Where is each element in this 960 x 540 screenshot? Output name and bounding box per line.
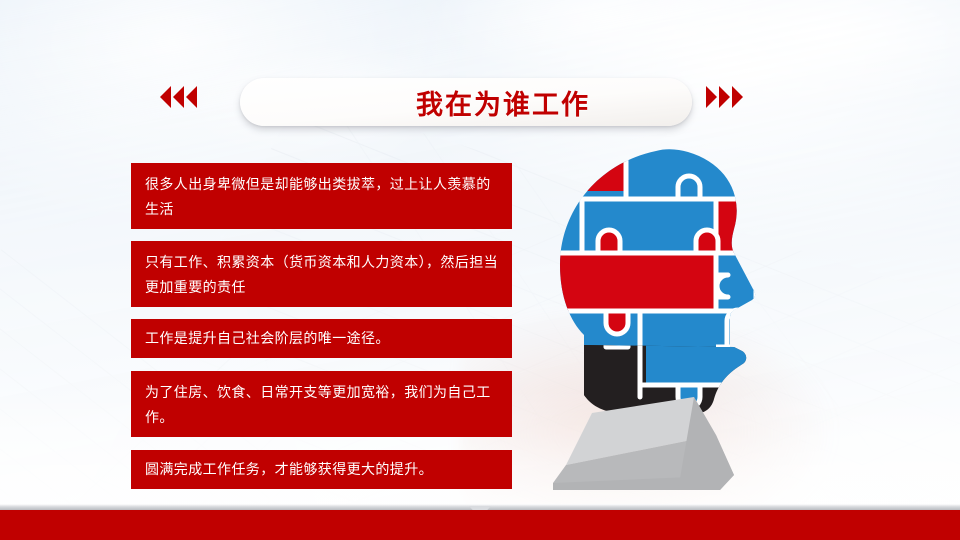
puzzle-head-svg (548, 145, 848, 490)
puzzle-piece-blue-jaw (646, 343, 848, 385)
chevron-left-icon (186, 86, 197, 108)
puzzle-knob (696, 230, 718, 253)
slide-root: 我在为谁工作 很多人出身卑微但是却能够出类拔萃，过上让人羡慕的生活 只有工作、积… (0, 0, 960, 540)
puzzle-knob (744, 230, 766, 253)
bullet-item: 很多人出身卑微但是却能够出类拔萃，过上让人羡慕的生活 (131, 163, 512, 229)
bullet-item: 圆满完成工作任务，才能够获得更大的提升。 (131, 450, 512, 489)
puzzle-knob (727, 320, 749, 343)
chevron-right-icon (732, 86, 743, 108)
chevron-right-triple-icon (706, 86, 743, 108)
puzzle-upper-head (548, 145, 848, 365)
chevron-left-icon (173, 86, 184, 108)
chevron-left-triple-icon (160, 86, 197, 108)
puzzle-piece-red-topright (716, 199, 796, 253)
bullet-list: 很多人出身卑微但是却能够出类拔萃，过上让人羡慕的生活 只有工作、积累资本（货币资… (131, 163, 512, 489)
puzzle-knob (598, 230, 620, 253)
chevron-left-icon (160, 86, 171, 108)
bullet-item: 工作是提升自己社会阶层的唯一途径。 (131, 319, 512, 358)
puzzle-knob (678, 176, 700, 199)
puzzle-head-illustration (548, 145, 848, 490)
slide-header: 我在为谁工作 (0, 36, 960, 94)
puzzle-piece-black-cheek (574, 345, 646, 397)
bullet-item: 为了住房、饮食、日常开支等更加宽裕，我们为自己工作。 (131, 371, 512, 437)
puzzle-knob (606, 311, 628, 334)
chevron-right-icon (706, 86, 717, 108)
puzzle-piece-red-topleft (576, 157, 626, 191)
puzzle-piece-red-middle (548, 253, 716, 311)
page-title: 我在为谁工作 (240, 78, 692, 126)
bullet-item: 只有工作、积累资本（货币资本和人力资本），然后担当更加重要的责任 (131, 241, 512, 307)
footer-red-bar (0, 510, 960, 540)
chevron-right-icon (719, 86, 730, 108)
